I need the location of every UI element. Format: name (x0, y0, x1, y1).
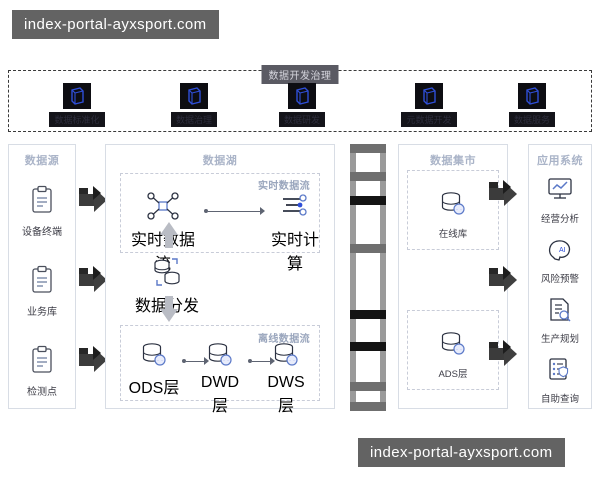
node-dws-label: DWS层 (260, 374, 312, 416)
governance-item-1[interactable]: 数据标准化 (22, 83, 132, 128)
ladder-rail-left (350, 144, 356, 409)
node-detection-point-label: 检测点 (9, 383, 75, 398)
cube-icon (415, 83, 443, 109)
node-business-db-label: 业务库 (9, 303, 75, 318)
ladder-rung (350, 172, 386, 181)
connector-realtime (204, 207, 266, 215)
node-ods-label: ODS层 (128, 374, 180, 398)
node-self-service-query[interactable]: 自助查询 (529, 357, 591, 405)
governance-item-3-label: 数据研发 (279, 112, 325, 127)
ai-head-icon: AI (546, 237, 574, 263)
network-nodes-icon (145, 191, 181, 221)
node-dwd-label: DWD层 (194, 374, 246, 416)
arrow-mart-to-app-2 (489, 266, 519, 294)
pipeline-ladder (348, 144, 388, 409)
node-device-terminal[interactable]: 设备终端 (9, 185, 75, 238)
database-sync-icon (151, 257, 183, 287)
database-icon (438, 190, 468, 218)
ladder-rung (350, 196, 386, 205)
governance-item-4-label: 元数据开发 (401, 112, 456, 127)
governance-item-2[interactable]: 数据治理 (139, 83, 249, 128)
ladder-rung (350, 402, 386, 411)
node-self-service-query-label: 自助查询 (529, 391, 591, 405)
governance-bar: 数据开发治理 数据标准化 数据治理 数据研发 元数据开发 数据服务 (8, 70, 592, 132)
governance-item-5-label: 数据服务 (509, 112, 555, 127)
ladder-rung (350, 310, 386, 319)
ladder-rung (350, 382, 386, 391)
arrow-mart-to-app-3 (489, 340, 519, 368)
arrow-mart-to-app-1 (489, 180, 519, 208)
cube-icon (180, 83, 208, 109)
database-icon (205, 341, 235, 369)
governance-title: 数据开发治理 (262, 65, 339, 84)
clipboard-icon (30, 265, 54, 295)
cube-icon (63, 83, 91, 109)
column-data-mart-title: 数据集市 (399, 152, 507, 168)
node-detection-point[interactable]: 检测点 (9, 345, 75, 398)
arrow-down-to-offline (160, 296, 178, 322)
database-icon (271, 341, 301, 369)
node-realtime-compute-label: 实时计算 (266, 226, 324, 274)
ladder-rung (350, 342, 386, 351)
governance-item-4[interactable]: 元数据开发 (374, 83, 484, 128)
database-icon (139, 341, 169, 369)
realtime-flow-title: 实时数据流 (258, 177, 310, 192)
column-data-source-title: 数据源 (9, 152, 75, 168)
cube-icon (518, 83, 546, 109)
arrow-up-to-realtime (160, 222, 178, 248)
clipboard-icon (30, 185, 54, 215)
governance-item-5[interactable]: 数据服务 (477, 83, 587, 128)
node-dws[interactable]: DWS层 (260, 341, 312, 416)
governance-item-1-label: 数据标准化 (49, 112, 104, 127)
clipboard-icon (30, 345, 54, 375)
svg-text:AI: AI (559, 247, 566, 254)
governance-item-3[interactable]: 数据研发 (247, 83, 357, 128)
node-business-analysis-label: 经营分析 (529, 211, 591, 225)
node-dwd[interactable]: DWD层 (194, 341, 246, 416)
node-business-db[interactable]: 业务库 (9, 265, 75, 318)
node-business-analysis[interactable]: 经营分析 (529, 177, 591, 225)
column-app-system-title: 应用系统 (529, 152, 591, 168)
column-data-source: 数据源 设备终端 业务库 检测点 (8, 144, 76, 409)
node-online-db-label: 在线库 (399, 226, 507, 240)
node-ads-label: ADS层 (399, 366, 507, 380)
ladder-rung (350, 244, 386, 253)
node-realtime-compute[interactable]: 实时计算 (266, 191, 324, 274)
node-production-plan[interactable]: 生产规划 (529, 297, 591, 345)
doc-search-icon (546, 297, 574, 323)
node-risk-warning[interactable]: AI 风险预警 (529, 237, 591, 285)
node-ods[interactable]: ODS层 (128, 341, 180, 398)
column-app-system: 应用系统 经营分析 AI 风险预警 生产规划 (528, 144, 592, 409)
governance-item-2-label: 数据治理 (171, 112, 217, 127)
node-production-plan-label: 生产规划 (529, 331, 591, 345)
node-risk-warning-label: 风险预警 (529, 271, 591, 285)
watermark-top: index-portal-ayxsport.com (12, 10, 219, 39)
column-data-lake-title: 数据湖 (106, 152, 334, 168)
doc-shield-icon (546, 357, 574, 383)
ladder-rail-right (380, 144, 386, 409)
column-data-lake: 数据湖 实时数据流 实时数据流 实时计算 (105, 144, 335, 409)
monitor-chart-icon (546, 177, 574, 203)
cube-icon (288, 83, 316, 109)
ladder-rung (350, 144, 386, 153)
realtime-compute-icon (280, 191, 310, 221)
watermark-bottom: index-portal-ayxsport.com (358, 438, 565, 467)
database-icon (438, 330, 468, 358)
node-device-terminal-label: 设备终端 (9, 223, 75, 238)
